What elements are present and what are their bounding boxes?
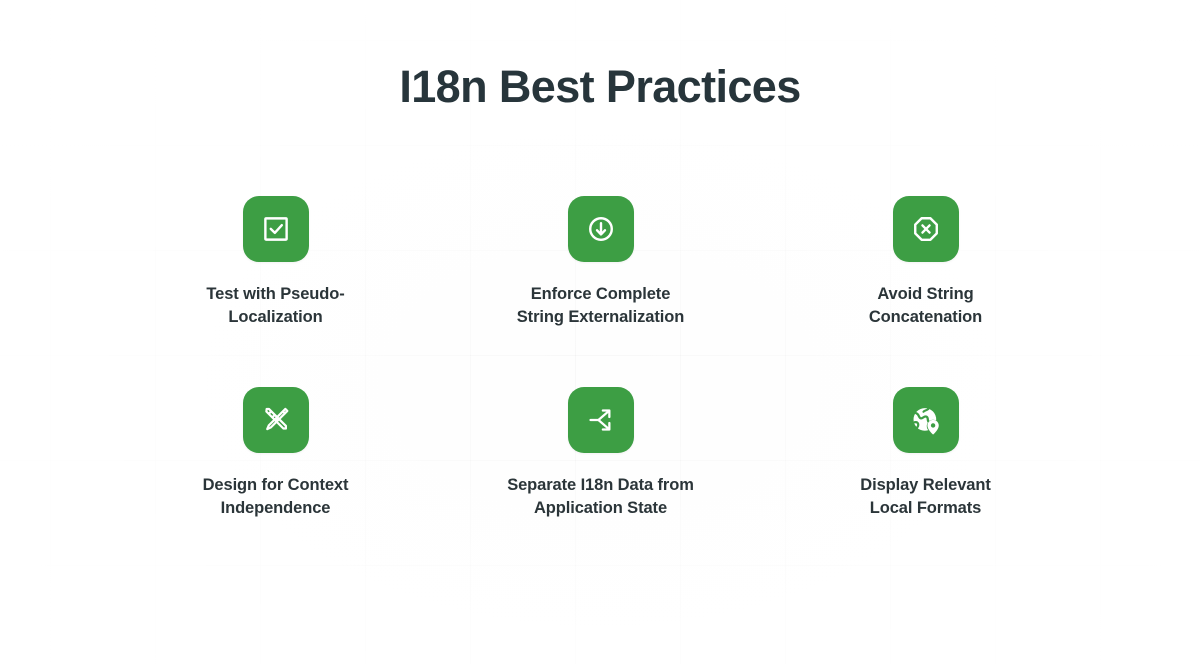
check-square-icon — [259, 212, 293, 246]
practice-card-label: Separate I18n Data from Application Stat… — [507, 474, 694, 521]
practice-card-separate-i18n-data-from-application-state[interactable]: Separate I18n Data from Application Stat… — [493, 387, 708, 578]
split-arrows-icon — [584, 403, 618, 437]
practice-card-avoid-string-concatenation[interactable]: Avoid String Concatenation — [818, 196, 1033, 387]
practice-card-label: Display Relevant Local Formats — [860, 474, 990, 521]
globe-pin-icon — [909, 403, 943, 437]
split-arrows-icon-tile — [568, 387, 634, 453]
practice-card-label: Test with Pseudo- Localization — [206, 283, 344, 330]
practice-card-test-with-pseudo-localization[interactable]: Test with Pseudo- Localization — [168, 196, 383, 387]
practice-card-label: Avoid String Concatenation — [869, 283, 982, 330]
globe-pin-icon-tile — [893, 387, 959, 453]
check-square-icon-tile — [243, 196, 309, 262]
x-octagon-icon — [909, 212, 943, 246]
practice-card-design-for-context-independence[interactable]: Design for Context Independence — [168, 387, 383, 578]
practice-card-enforce-complete-string-externalization[interactable]: Enforce Complete String Externalization — [493, 196, 708, 387]
arrow-down-circle-icon — [584, 212, 618, 246]
infographic-slide: I18n Best Practices Test with Pseudo- Lo… — [0, 0, 1200, 664]
x-octagon-icon-tile — [893, 196, 959, 262]
page-title: I18n Best Practices — [0, 60, 1200, 114]
pencil-ruler-icon-tile — [243, 387, 309, 453]
best-practices-grid: Test with Pseudo- Localization Enforce C… — [113, 196, 1088, 578]
practice-card-label: Enforce Complete String Externalization — [517, 283, 684, 330]
practice-card-label: Design for Context Independence — [203, 474, 349, 521]
practice-card-display-relevant-local-formats[interactable]: Display Relevant Local Formats — [818, 387, 1033, 578]
pencil-ruler-icon — [259, 403, 293, 437]
arrow-down-circle-icon-tile — [568, 196, 634, 262]
